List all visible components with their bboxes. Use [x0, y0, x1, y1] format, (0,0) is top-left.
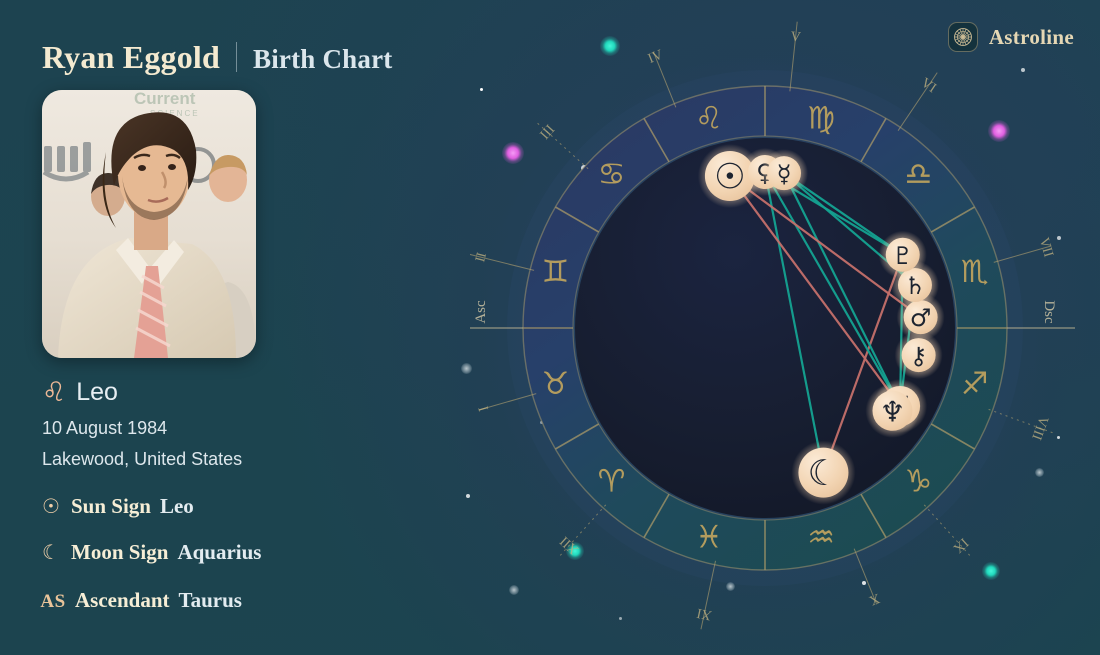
- axis-label-dsc: Dsc: [1041, 300, 1057, 324]
- zodiac-glyph-aries: ♈: [598, 463, 626, 499]
- planet-glyph-neptune: ♆: [880, 395, 905, 428]
- planet-glyph-moon: ☾: [808, 453, 840, 494]
- house-numeral-ii: II: [473, 251, 490, 264]
- house-numeral-viii: VIII: [1028, 414, 1050, 442]
- zodiac-glyph-gemini: ♊: [541, 254, 569, 290]
- house-numeral-v: V: [790, 30, 802, 46]
- moon-icon: ☾: [40, 542, 62, 562]
- planet-token-moon[interactable]: ☾: [791, 441, 855, 505]
- attribute-moon-sign: ☾ Moon Sign Aquarius: [40, 540, 261, 565]
- planet-glyph-sun: ☉: [714, 156, 746, 197]
- profile-photo: Current SCIENCE 2: [42, 90, 256, 358]
- zodiac-glyph-cancer: ♋: [598, 157, 626, 193]
- house-numeral-xii: XII: [557, 533, 582, 557]
- attribute-label: Moon Sign: [71, 540, 168, 565]
- page-header: Ryan Eggold Birth Chart: [42, 38, 392, 76]
- zodiac-glyph-pisces: ♓: [695, 520, 723, 556]
- house-numeral-iv: IV: [646, 48, 665, 67]
- house-numeral-x: X: [867, 590, 882, 608]
- planet-token-pluto[interactable]: ♇: [879, 231, 927, 279]
- planet-token-mercury[interactable]: ☿: [760, 149, 808, 197]
- axis-label-asc: Asc: [473, 300, 489, 324]
- wheel-svg: ♉♈♓♒♑♐♏♎♍♌♋♊XXIXIIIIIIIIIVVVIVIIVIIIIXAs…: [470, 0, 1100, 655]
- page-subtitle: Birth Chart: [253, 44, 392, 75]
- planet-glyph-chiron: ⚷: [910, 342, 928, 370]
- zodiac-glyph-sagittarius: ♐: [961, 366, 989, 402]
- zodiac-glyph-leo: ♌: [695, 100, 723, 136]
- zodiac-glyph-aquarius: ♒: [807, 520, 835, 556]
- attribute-value: Leo: [160, 494, 194, 519]
- planet-token-neptune[interactable]: ♆: [865, 384, 919, 438]
- zodiac-glyph-libra: ♎: [905, 157, 933, 193]
- planet-glyph-mercury: ☿: [777, 160, 792, 188]
- attribute-value: Aquarius: [177, 540, 261, 565]
- house-numeral-ix: IX: [950, 534, 971, 555]
- zodiac-glyph-scorpio: ♏: [961, 254, 989, 290]
- zodiac-glyph-taurus: ♉: [541, 366, 569, 402]
- svg-text:Current: Current: [134, 90, 196, 108]
- leo-icon: ♌: [42, 379, 66, 406]
- birth-place: Lakewood, United States: [42, 449, 242, 470]
- sun-icon: ☉: [40, 496, 62, 516]
- title-divider: [236, 42, 237, 72]
- app-canvas: Ryan Eggold Birth Chart: [0, 0, 1100, 655]
- house-numeral-i: I: [476, 404, 492, 413]
- attribute-label: Sun Sign: [71, 494, 151, 519]
- page-title: Ryan Eggold: [42, 39, 220, 76]
- attribute-sun-sign: ☉ Sun Sign Leo: [40, 494, 194, 519]
- planet-glyph-pluto: ♇: [892, 242, 914, 270]
- sun-sign-headline: ♌ Leo: [42, 378, 118, 407]
- house-numeral-vi: VI: [918, 76, 939, 97]
- ascendant-icon: AS: [40, 591, 66, 613]
- attribute-ascendant: AS Ascendant Taurus: [40, 588, 242, 613]
- house-numeral-vii: VII: [1036, 236, 1056, 259]
- birth-date: 10 August 1984: [42, 418, 167, 439]
- attribute-value: Taurus: [179, 588, 242, 613]
- birth-chart-wheel[interactable]: ♉♈♓♒♑♐♏♎♍♌♋♊XXIXIIIIIIIIIVVVIVIIVIIIIXAs…: [470, 0, 1100, 655]
- house-numeral-xi: XI: [695, 605, 713, 623]
- sun-sign-name: Leo: [76, 378, 118, 407]
- zodiac-glyph-virgo: ♍: [807, 100, 835, 136]
- zodiac-glyph-capricorn: ♑: [905, 463, 933, 499]
- attribute-label: Ascendant: [75, 588, 170, 613]
